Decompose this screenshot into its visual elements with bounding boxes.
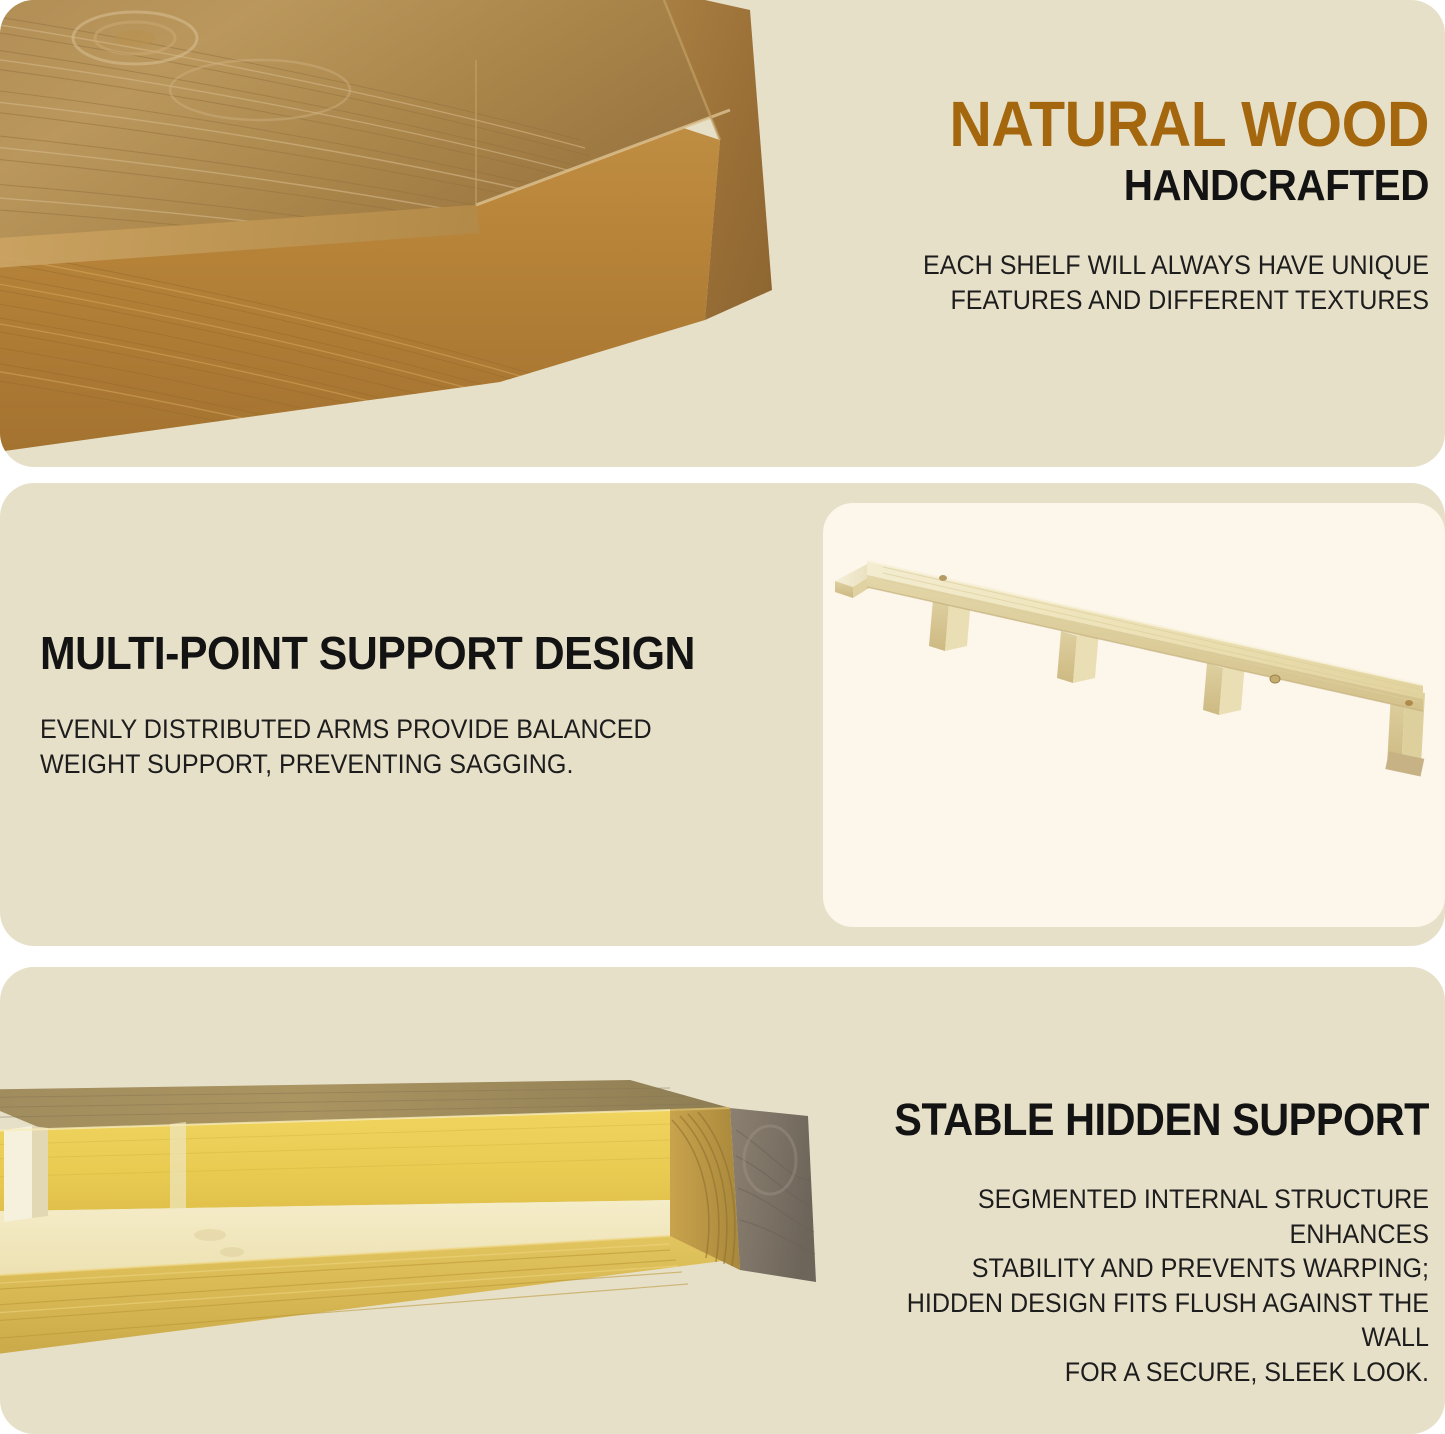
hollow-shelf-photo xyxy=(0,1060,830,1390)
panel-3-description-line-3: HIDDEN DESIGN FITS FLUSH AGAINST THE WAL… xyxy=(852,1286,1429,1355)
panel-1-title-secondary: HANDCRAFTED xyxy=(859,164,1429,208)
infographic-page: NATURAL WOOD HANDCRAFTED EACH SHELF WILL… xyxy=(0,0,1445,1434)
wood-slab-photo xyxy=(0,0,830,460)
panel-1-description-line-1: EACH SHELF WILL ALWAYS HAVE UNIQUE xyxy=(852,248,1429,283)
panel-3-description-line-4: FOR A SECURE, SLEEK LOOK. xyxy=(852,1355,1429,1390)
panel-1-text-block: NATURAL WOOD HANDCRAFTED EACH SHELF WILL… xyxy=(809,92,1429,317)
panel-2-text-block: MULTI-POINT SUPPORT DESIGN EVENLY DISTRI… xyxy=(40,630,780,781)
panel-3-text-block: STABLE HIDDEN SUPPORT SEGMENTED INTERNAL… xyxy=(809,1097,1429,1389)
panel-3-description-line-2: STABILITY AND PREVENTS WARPING; xyxy=(852,1251,1429,1286)
bracket-illustration xyxy=(823,503,1445,927)
hollow-shelf-illustration xyxy=(0,1060,830,1390)
panel-natural-wood: NATURAL WOOD HANDCRAFTED EACH SHELF WILL… xyxy=(0,0,1445,467)
panel-2-description: EVENLY DISTRIBUTED ARMS PROVIDE BALANCED… xyxy=(40,712,728,781)
wood-slab-illustration xyxy=(0,0,830,460)
panel-1-description-line-2: FEATURES AND DIFFERENT TEXTURES xyxy=(852,283,1429,318)
bracket-image-card xyxy=(823,503,1445,927)
panel-1-title-primary: NATURAL WOOD xyxy=(859,92,1429,156)
panel-2-description-line-1: EVENLY DISTRIBUTED ARMS PROVIDE BALANCED xyxy=(40,712,728,747)
panel-3-description-line-1: SEGMENTED INTERNAL STRUCTURE ENHANCES xyxy=(852,1182,1429,1251)
panel-3-description: SEGMENTED INTERNAL STRUCTURE ENHANCES ST… xyxy=(852,1182,1429,1389)
panel-3-title: STABLE HIDDEN SUPPORT xyxy=(859,1097,1429,1142)
panel-2-title: MULTI-POINT SUPPORT DESIGN xyxy=(40,630,728,676)
panel-1-description: EACH SHELF WILL ALWAYS HAVE UNIQUE FEATU… xyxy=(852,248,1429,317)
panel-2-description-line-2: WEIGHT SUPPORT, PREVENTING SAGGING. xyxy=(40,747,728,782)
